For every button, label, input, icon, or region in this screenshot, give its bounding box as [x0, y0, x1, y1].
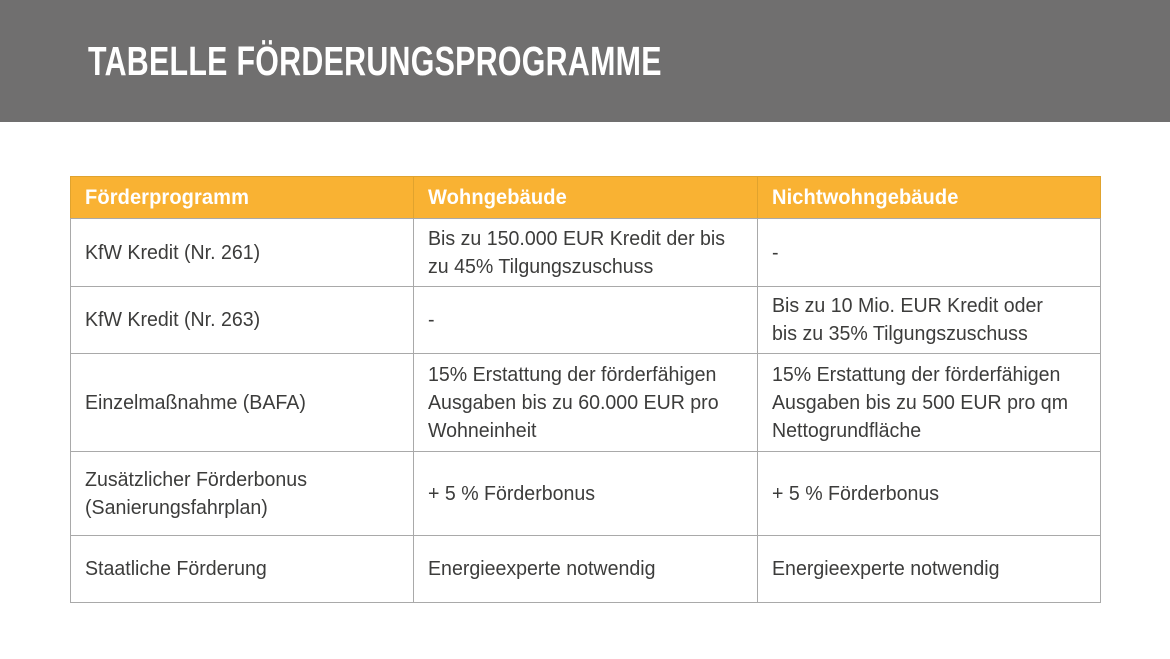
- cell-text: Bis zu 150.000 EUR Kredit der bis zu 45%…: [428, 225, 729, 281]
- column-header-label: Wohngebäude: [428, 186, 729, 210]
- cell-text: Einzelmaßnahme (BAFA): [85, 389, 385, 417]
- table-row: KfW Kredit (Nr. 261) Bis zu 150.000 EUR …: [71, 219, 1101, 287]
- cell-nichtwohngebaeude: -: [758, 219, 1101, 287]
- table-row: Zusätzlicher Förderbonus (Sanierungsfahr…: [71, 452, 1101, 536]
- cell-wohngebaeude: -: [414, 287, 758, 354]
- page-title: Tabelle Förderungsprogramme: [88, 38, 662, 84]
- cell-text: KfW Kredit (Nr. 263): [85, 306, 385, 334]
- table-body: KfW Kredit (Nr. 261) Bis zu 150.000 EUR …: [71, 219, 1101, 603]
- cell-program: KfW Kredit (Nr. 261): [71, 219, 414, 287]
- cell-wohngebaeude: + 5 % Förderbonus: [414, 452, 758, 536]
- cell-text: Energieexperte notwendig: [428, 555, 729, 583]
- cell-text: Zusätzlicher Förderbonus (Sanierungsfahr…: [85, 466, 385, 522]
- cell-nichtwohngebaeude: 15% Erstattung der förderfähigen Ausgabe…: [758, 354, 1101, 452]
- table-row: Staatliche Förderung Energieexperte notw…: [71, 536, 1101, 603]
- cell-text: Staatliche Förderung: [85, 555, 385, 583]
- cell-program: Staatliche Förderung: [71, 536, 414, 603]
- table-header-row: Förderprogramm Wohngebäude Nichtwohngebä…: [71, 177, 1101, 219]
- table-row: KfW Kredit (Nr. 263) - Bis zu 10 Mio. EU…: [71, 287, 1101, 354]
- column-header-foerderprogramm: Förderprogramm: [71, 177, 414, 219]
- cell-text: 15% Erstattung der förderfähigen Ausgabe…: [772, 361, 1072, 445]
- column-header-wohngebaeude: Wohngebäude: [414, 177, 758, 219]
- cell-nichtwohngebaeude: Energieexperte notwendig: [758, 536, 1101, 603]
- page-header-banner: Tabelle Förderungsprogramme: [0, 0, 1170, 122]
- cell-program: KfW Kredit (Nr. 263): [71, 287, 414, 354]
- funding-programs-table: Förderprogramm Wohngebäude Nichtwohngebä…: [70, 176, 1101, 603]
- table-row: Einzelmaßnahme (BAFA) 15% Erstattung der…: [71, 354, 1101, 452]
- cell-wohngebaeude: Energieexperte notwendig: [414, 536, 758, 603]
- cell-wohngebaeude: Bis zu 150.000 EUR Kredit der bis zu 45%…: [414, 219, 758, 287]
- cell-text: -: [772, 239, 1072, 267]
- cell-nichtwohngebaeude: + 5 % Förderbonus: [758, 452, 1101, 536]
- column-header-nichtwohngebaeude: Nichtwohngebäude: [758, 177, 1101, 219]
- cell-nichtwohngebaeude: Bis zu 10 Mio. EUR Kredit oder bis zu 35…: [758, 287, 1101, 354]
- cell-text: 15% Erstattung der förderfähigen Ausgabe…: [428, 361, 729, 445]
- cell-text: Bis zu 10 Mio. EUR Kredit oder bis zu 35…: [772, 292, 1072, 348]
- column-header-label: Nichtwohngebäude: [772, 186, 1072, 210]
- cell-text: + 5 % Förderbonus: [772, 480, 1072, 508]
- cell-text: + 5 % Förderbonus: [428, 480, 729, 508]
- cell-text: Energieexperte notwendig: [772, 555, 1072, 583]
- funding-programs-table-container: Förderprogramm Wohngebäude Nichtwohngebä…: [70, 176, 1100, 603]
- cell-program: Zusätzlicher Förderbonus (Sanierungsfahr…: [71, 452, 414, 536]
- cell-text: -: [428, 306, 729, 334]
- table-header: Förderprogramm Wohngebäude Nichtwohngebä…: [71, 177, 1101, 219]
- cell-text: KfW Kredit (Nr. 261): [85, 239, 385, 267]
- cell-wohngebaeude: 15% Erstattung der förderfähigen Ausgabe…: [414, 354, 758, 452]
- column-header-label: Förderprogramm: [85, 186, 385, 210]
- cell-program: Einzelmaßnahme (BAFA): [71, 354, 414, 452]
